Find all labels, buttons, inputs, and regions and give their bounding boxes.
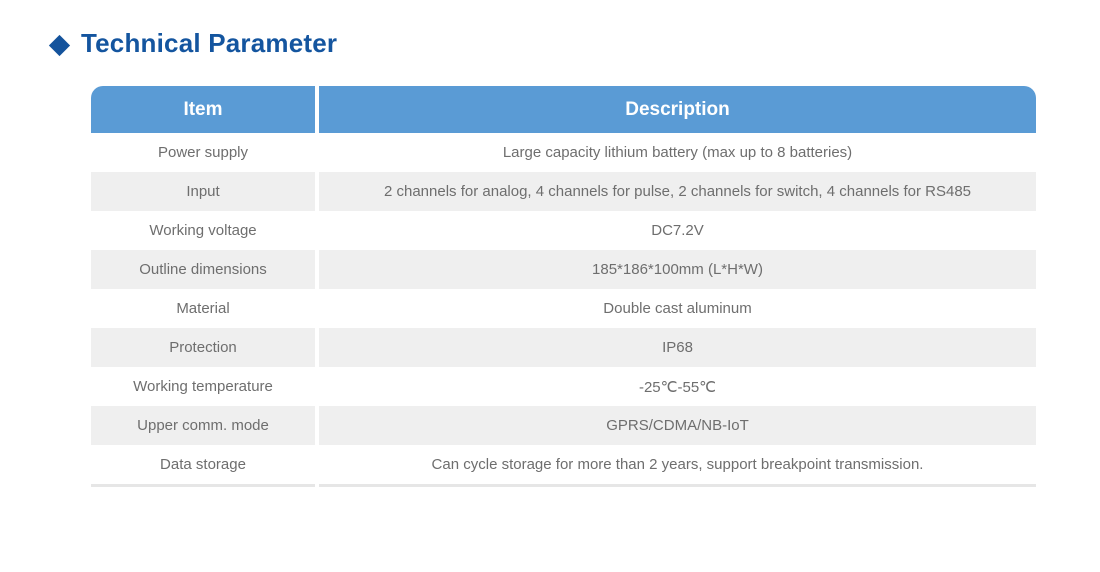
cell-item: Outline dimensions bbox=[91, 250, 315, 289]
cell-item: Upper comm. mode bbox=[91, 406, 315, 445]
page-title-label: Technical Parameter bbox=[81, 28, 337, 59]
table-row: Working voltageDC7.2V bbox=[91, 211, 1036, 250]
table-row: MaterialDouble cast aluminum bbox=[91, 289, 1036, 328]
table-row: Input2 channels for analog, 4 channels f… bbox=[91, 172, 1036, 211]
cell-description: Large capacity lithium battery (max up t… bbox=[319, 133, 1036, 172]
table-bottom-border bbox=[91, 484, 1036, 490]
cell-item: Working voltage bbox=[91, 211, 315, 250]
cell-description: 2 channels for analog, 4 channels for pu… bbox=[319, 172, 1036, 211]
table-body: Power supplyLarge capacity lithium batte… bbox=[91, 133, 1036, 484]
cell-item: Power supply bbox=[91, 133, 315, 172]
column-header-description: Description bbox=[319, 86, 1036, 133]
cell-item: Protection bbox=[91, 328, 315, 367]
cell-description: IP68 bbox=[319, 328, 1036, 367]
table-row: Working temperature-25℃-55℃ bbox=[91, 367, 1036, 406]
cell-item: Working temperature bbox=[91, 367, 315, 406]
column-header-item: Item bbox=[91, 86, 315, 133]
cell-description: GPRS/CDMA/NB-IoT bbox=[319, 406, 1036, 445]
cell-item: Data storage bbox=[91, 445, 315, 484]
table-header-row: Item Description bbox=[91, 86, 1036, 133]
slide-canvas: Technical Parameter Item Description Pow… bbox=[0, 0, 1100, 572]
table-row: Upper comm. modeGPRS/CDMA/NB-IoT bbox=[91, 406, 1036, 445]
cell-description: -25℃-55℃ bbox=[319, 367, 1036, 406]
cell-item: Input bbox=[91, 172, 315, 211]
table-row: Power supplyLarge capacity lithium batte… bbox=[91, 133, 1036, 172]
table-bottom-border-description bbox=[319, 484, 1036, 487]
cell-description: Double cast aluminum bbox=[319, 289, 1036, 328]
cell-description: Can cycle storage for more than 2 years,… bbox=[319, 445, 1036, 484]
technical-parameter-table: Item Description Power supplyLarge capac… bbox=[91, 86, 1036, 490]
cell-description: DC7.2V bbox=[319, 211, 1036, 250]
page-title: Technical Parameter bbox=[52, 28, 337, 59]
table-bottom-border-item bbox=[91, 484, 315, 487]
table-row: Outline dimensions185*186*100mm (L*H*W) bbox=[91, 250, 1036, 289]
diamond-bullet-icon bbox=[49, 34, 70, 55]
table-row: Data storageCan cycle storage for more t… bbox=[91, 445, 1036, 484]
table-row: ProtectionIP68 bbox=[91, 328, 1036, 367]
cell-description: 185*186*100mm (L*H*W) bbox=[319, 250, 1036, 289]
cell-item: Material bbox=[91, 289, 315, 328]
